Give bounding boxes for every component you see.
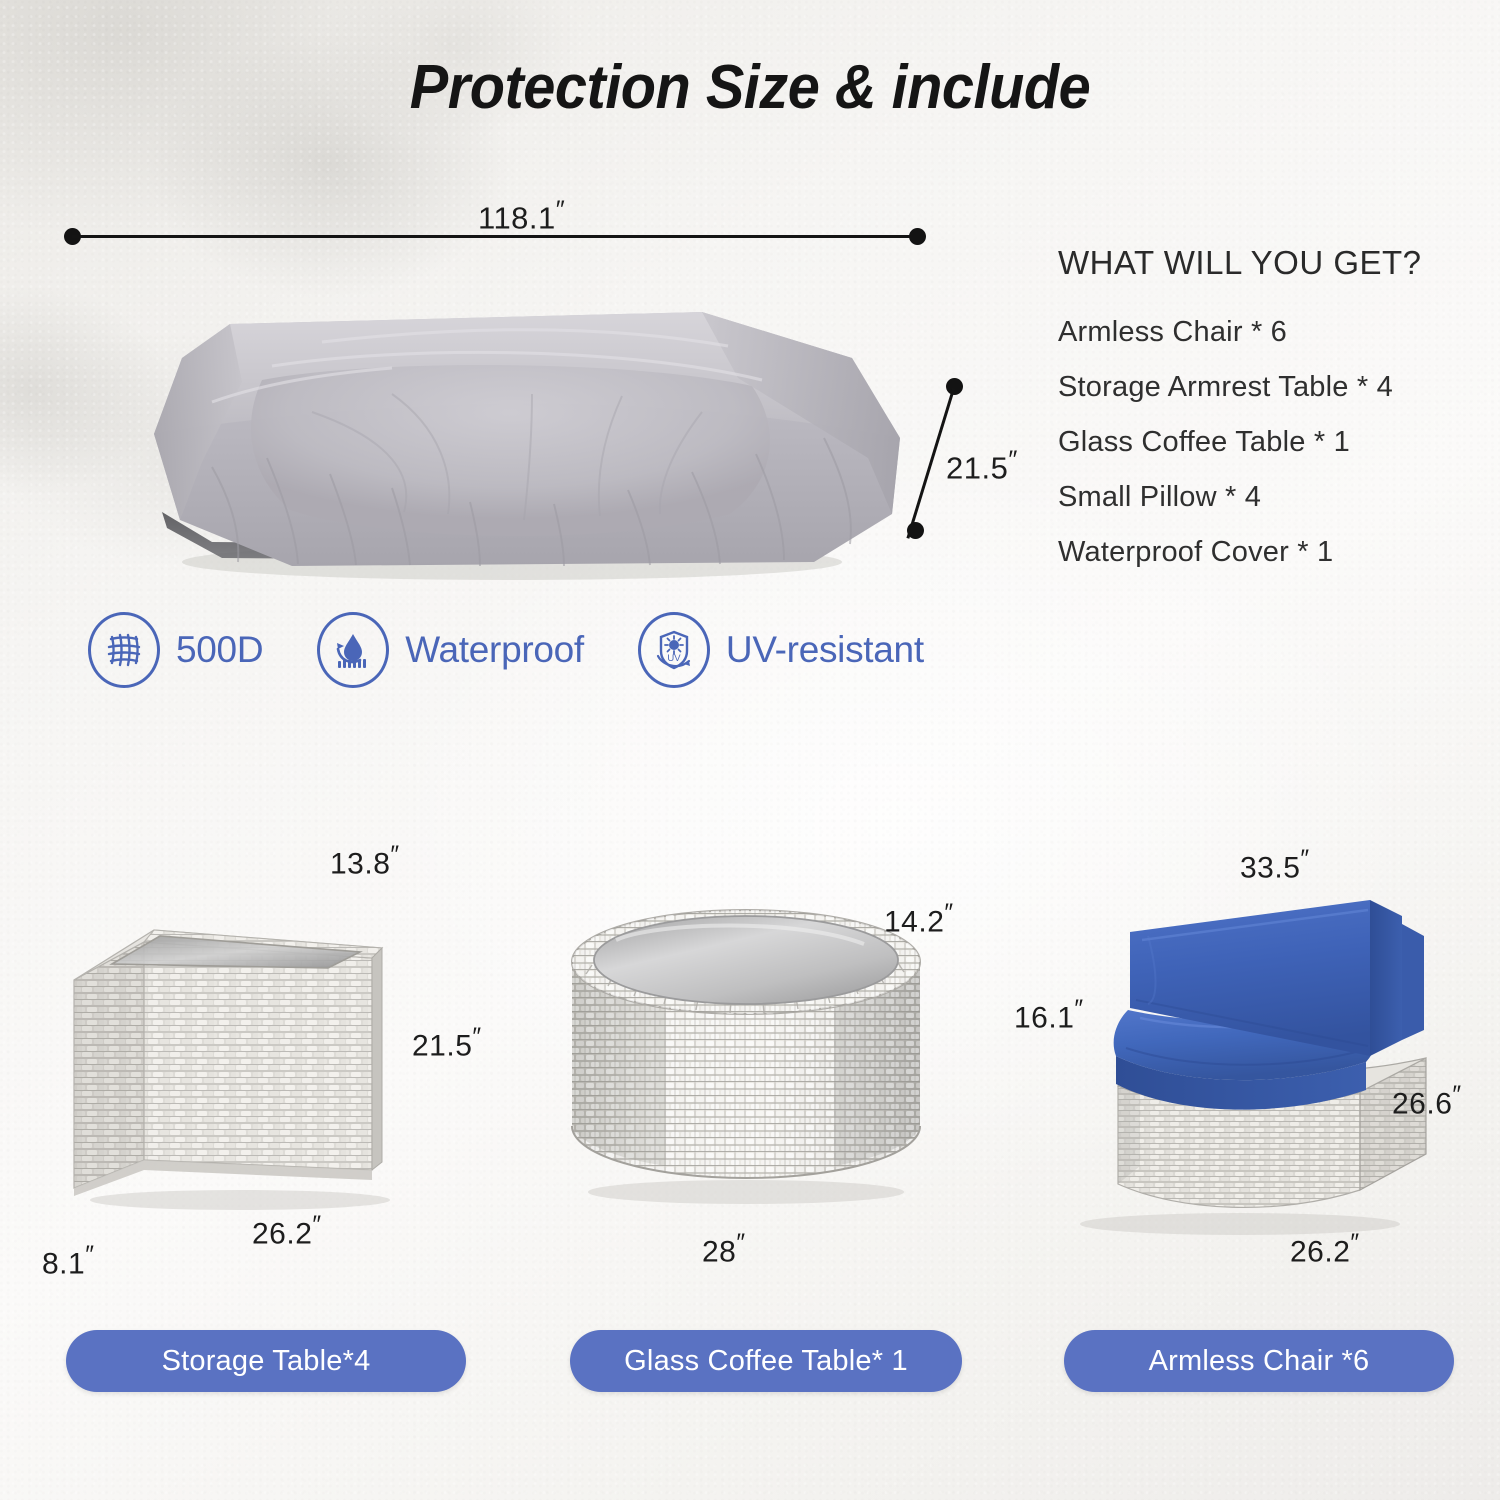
included-item-glass-coffee-table: Glass Coffee Table * 1 — [1058, 428, 1478, 457]
included-item-armless-chair: Armless Chair * 6 — [1058, 318, 1478, 347]
included-item-waterproof-cover: Waterproof Cover * 1 — [1058, 538, 1478, 567]
cover-height-label: 21.5″ — [946, 446, 1016, 487]
feature-label-500d: 500D — [176, 629, 263, 671]
feature-badge-waterproof: Waterproof — [317, 612, 584, 688]
included-item-small-pillow: Small Pillow * 4 — [1058, 483, 1478, 512]
feature-badges: 500D Waterproof — [88, 612, 978, 688]
cover-svg — [62, 262, 962, 592]
caption-pill-storage-table[interactable]: Storage Table*4 — [66, 1330, 466, 1392]
cover-width-rule — [72, 235, 918, 238]
storage-depth-label: 13.8″ — [330, 842, 398, 881]
cover-seat-depression — [251, 365, 770, 536]
background-grain — [0, 0, 1500, 1500]
included-item-storage-armrest-table: Storage Armrest Table * 4 — [1058, 373, 1478, 402]
caption-pill-armless-chair[interactable]: Armless Chair *6 — [1064, 1330, 1454, 1392]
caption-pill-glass-coffee-table[interactable]: Glass Coffee Table* 1 — [570, 1330, 962, 1392]
glass-coffee-table-illustration — [546, 900, 946, 1220]
page-title: Protection Size & include — [53, 52, 1448, 123]
svg-text:UV: UV — [667, 653, 681, 664]
cover-height-dot-bottom — [907, 522, 924, 539]
coffee-table-height-label: 14.2″ — [884, 900, 952, 939]
uv-shield-icon: UV — [638, 612, 710, 688]
furniture-cover-illustration — [62, 262, 962, 592]
whats-included-panel: WHAT WILL YOU GET? Armless Chair * 6 Sto… — [1058, 244, 1478, 593]
storage-height-label: 21.5″ — [412, 1024, 480, 1063]
storage-table-front-panel — [144, 942, 372, 1170]
cover-height-dot-top — [946, 378, 963, 395]
feature-badge-uv-resistant: UV UV-resistant — [638, 612, 924, 688]
chair-seat-height-label: 16.1″ — [1014, 996, 1082, 1035]
chair-back-cushion-side — [1370, 900, 1402, 1056]
feature-label-uv-resistant: UV-resistant — [726, 629, 924, 671]
storage-table-left-panel — [74, 942, 144, 1188]
coffee-table-diameter-label: 28″ — [702, 1230, 744, 1269]
whats-included-heading: WHAT WILL YOU GET? — [1058, 244, 1478, 282]
armless-chair-illustration — [1030, 880, 1450, 1250]
fabric-weave-icon — [88, 612, 160, 688]
cover-width-dot-right — [909, 228, 926, 245]
chair-back-bolster — [1402, 924, 1424, 1040]
storage-base-depth-label: 8.1″ — [42, 1242, 93, 1281]
chair-depth-label: 26.2″ — [1290, 1230, 1358, 1269]
feature-label-waterproof: Waterproof — [405, 629, 584, 671]
chair-total-height-label: 26.6″ — [1392, 1082, 1460, 1121]
water-droplet-icon — [317, 612, 389, 688]
cover-width-label: 118.1″ — [478, 196, 564, 237]
chair-width-label: 33.5″ — [1240, 846, 1308, 885]
storage-width-label: 26.2″ — [252, 1212, 320, 1251]
feature-badge-500d: 500D — [88, 612, 263, 688]
